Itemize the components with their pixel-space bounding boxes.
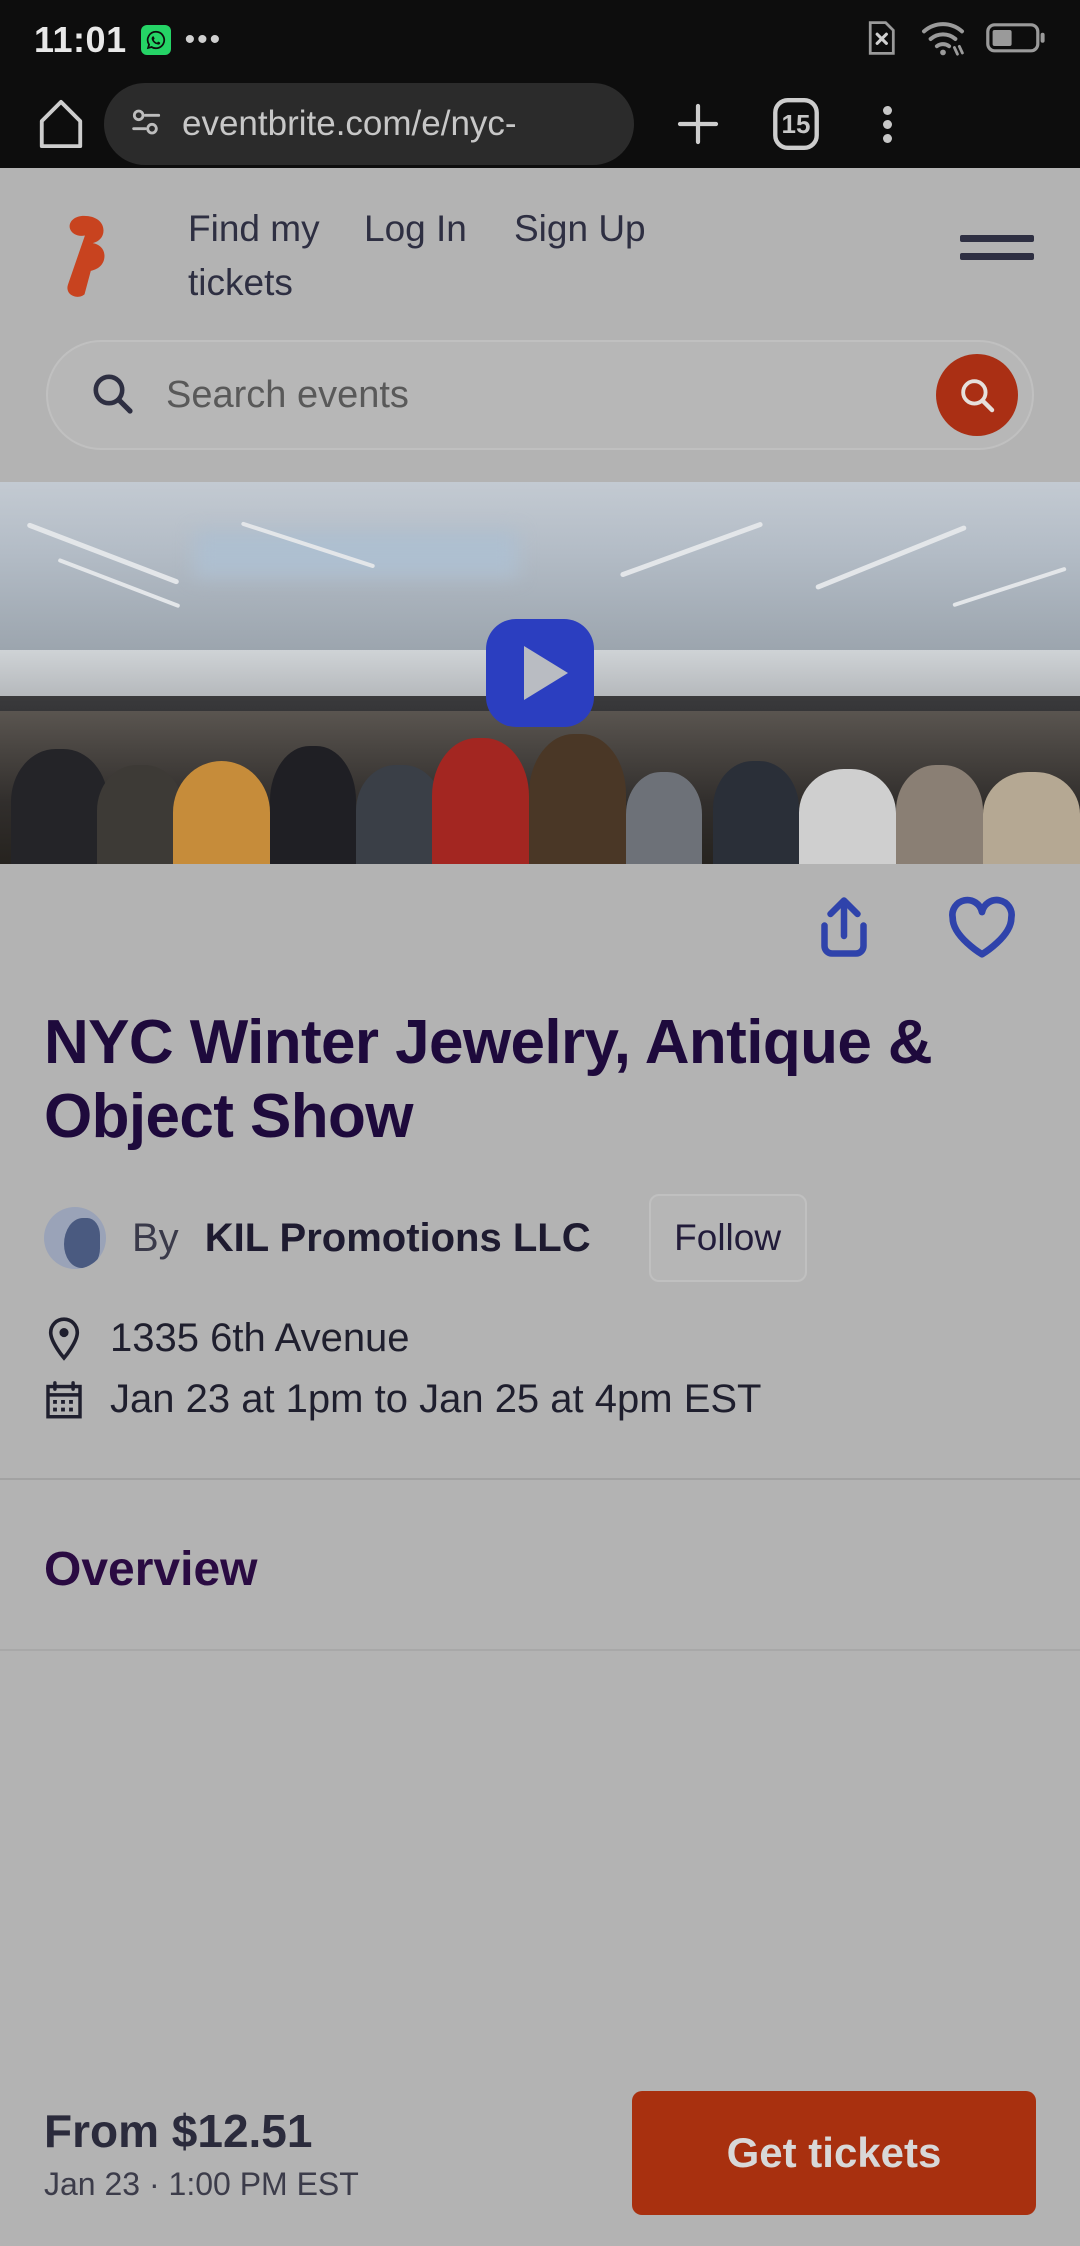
price-datetime: Jan 23 · 1:00 PM EST — [44, 2166, 359, 2203]
hamburger-icon[interactable] — [960, 224, 1034, 271]
event-date-row: Jan 23 at 1pm to Jan 25 at 4pm EST — [44, 1377, 1036, 1422]
nav-find-my-tickets[interactable]: Find my tickets — [188, 202, 364, 310]
kebab-menu-icon[interactable] — [852, 84, 922, 164]
organizer-name[interactable]: KIL Promotions LLC — [205, 1216, 591, 1261]
page-title: NYC Winter Jewelry, Antique & Object Sho… — [44, 1006, 1036, 1154]
overview-heading: Overview — [0, 1480, 1080, 1597]
plus-icon[interactable] — [658, 84, 738, 164]
search-submit-button[interactable] — [936, 354, 1018, 436]
search-input[interactable]: Search events — [166, 374, 906, 417]
event-location: 1335 6th Avenue — [110, 1316, 410, 1361]
checkout-bar: From $12.51 Jan 23 · 1:00 PM EST Get tic… — [0, 2060, 1080, 2246]
organizer-prefix: By — [132, 1216, 179, 1261]
home-icon[interactable] — [26, 89, 96, 159]
location-pin-icon — [44, 1317, 84, 1361]
status-bar-left: 11:01 ••• — [34, 19, 222, 61]
site-header: Find my tickets Log In Sign Up Search ev… — [0, 168, 1080, 450]
whatsapp-icon — [141, 25, 171, 55]
tab-switcher-button[interactable]: 15 — [756, 84, 836, 164]
event-actions — [0, 864, 1080, 992]
sim-x-icon — [862, 18, 900, 63]
nav-sign-up[interactable]: Sign Up — [514, 202, 664, 310]
address-bar-url: eventbrite.com/e/nyc- — [182, 104, 517, 144]
eventbrite-logo-icon[interactable] — [46, 212, 118, 298]
search-bar[interactable]: Search events — [46, 340, 1034, 450]
tab-count: 15 — [756, 84, 836, 164]
status-bar-right — [862, 18, 1046, 63]
heart-icon[interactable] — [942, 888, 1022, 968]
share-icon[interactable] — [804, 888, 884, 968]
avatar[interactable] — [44, 1207, 106, 1269]
site-settings-icon[interactable] — [130, 107, 164, 142]
play-icon[interactable] — [486, 619, 594, 727]
battery-icon — [986, 22, 1046, 59]
hero-media[interactable] — [0, 482, 1080, 864]
nav-log-in[interactable]: Log In — [364, 202, 514, 310]
calendar-icon — [44, 1378, 84, 1422]
browser-toolbar: eventbrite.com/e/nyc- 15 — [0, 80, 1080, 168]
overview-divider — [0, 1649, 1080, 1651]
price-from: From $12.51 — [44, 2104, 359, 2158]
price-block: From $12.51 Jan 23 · 1:00 PM EST — [44, 2104, 359, 2203]
phone-screen: 11:01 ••• — [0, 0, 1080, 2246]
get-tickets-button[interactable]: Get tickets — [632, 2091, 1036, 2215]
follow-button[interactable]: Follow — [649, 1194, 807, 1282]
address-bar[interactable]: eventbrite.com/e/nyc- — [104, 83, 634, 165]
organizer-row: By KIL Promotions LLC Follow — [44, 1194, 1036, 1282]
event-datetime: Jan 23 at 1pm to Jan 25 at 4pm EST — [110, 1377, 761, 1422]
notification-dots-icon: ••• — [185, 35, 223, 45]
event-summary: NYC Winter Jewelry, Antique & Object Sho… — [0, 1006, 1080, 1422]
event-location-row: 1335 6th Avenue — [44, 1316, 1036, 1361]
search-icon — [88, 369, 136, 422]
wifi-icon — [920, 19, 966, 62]
status-bar: 11:01 ••• — [0, 0, 1080, 80]
status-time: 11:01 — [34, 19, 127, 61]
page-content: Find my tickets Log In Sign Up Search ev… — [0, 168, 1080, 2246]
site-nav-row: Find my tickets Log In Sign Up — [46, 202, 1034, 322]
site-nav: Find my tickets Log In Sign Up — [118, 202, 960, 310]
